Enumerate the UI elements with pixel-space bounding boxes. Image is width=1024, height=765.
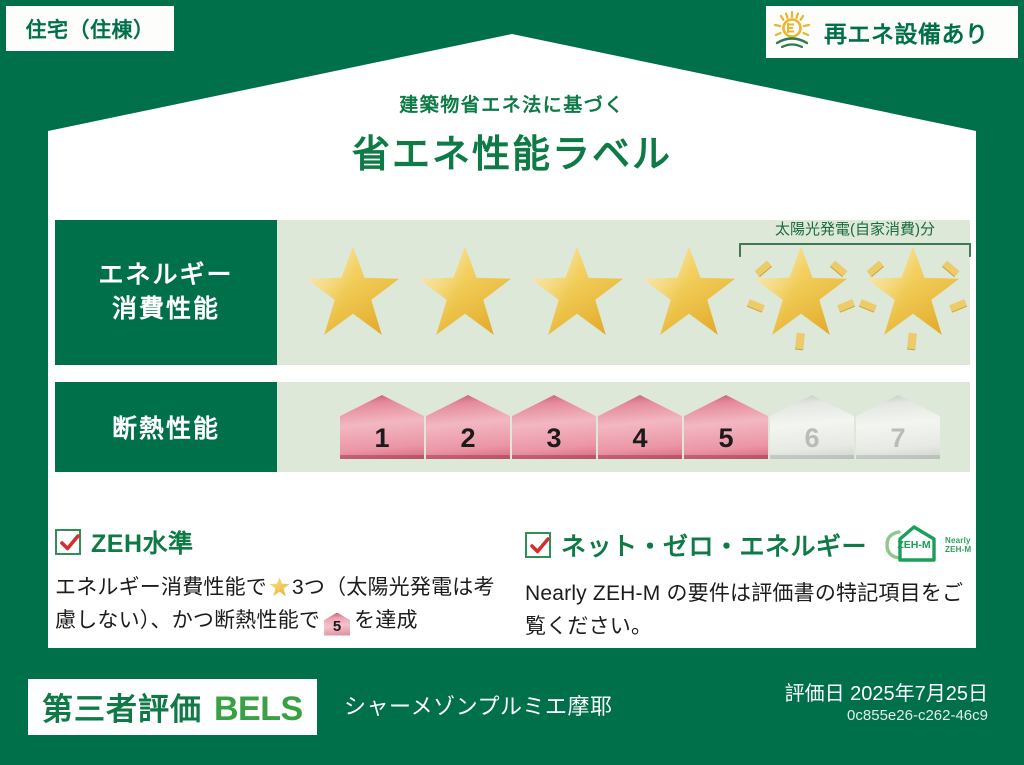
page-title: 省エネ性能ラベル [0, 123, 1024, 178]
zeh-text-part3: を達成 [354, 609, 418, 632]
net-zero-energy-description: Nearly ZEH-M の要件は評価書の特記項目をご覧ください。 [525, 578, 977, 643]
zeh-m-sub-line2: ZEH-M [945, 545, 971, 554]
check-icon [55, 529, 81, 555]
house-type-label: 住宅（住棟） [26, 14, 155, 44]
insulation-level-scale: 1 2 3 4 5 6 7 [277, 395, 940, 459]
insulation-performance-row: 断熱性能 1 2 3 4 5 6 7 [55, 382, 970, 472]
insulation-performance-label: 断熱性能 [55, 382, 277, 472]
title-subtitle: 建築物省エネ法に基づく [0, 90, 1024, 117]
bels-certification-badge: 第三者評価 BELS [28, 679, 317, 735]
insulation-performance-body: 1 2 3 4 5 6 7 [277, 382, 970, 472]
net-zero-energy-section: ネット・ゼロ・エネルギー ZEH-M Nearly ZEH-M Nearly Z… [525, 524, 977, 643]
insulation-level-3: 3 [512, 395, 596, 459]
star-icon [299, 239, 407, 347]
zeh-standard-header: ZEH水準 [55, 524, 507, 560]
insulation-level-badge-inline: 5 [324, 613, 350, 636]
bels-en-label: BELS [214, 690, 303, 729]
zeh-standard-section: ZEH水準 エネルギー消費性能で3つ（太陽光発電は考慮しない）、かつ断熱性能で5… [55, 524, 507, 637]
evaluation-id: 0c855e26-c262-46c9 [847, 707, 988, 724]
insulation-level-5: 5 [684, 395, 768, 459]
level-number: 5 [333, 618, 342, 635]
zeh-text-star-count: 3つ（太陽光発電 [292, 576, 452, 599]
title-block: 建築物省エネ法に基づく 省エネ性能ラベル [0, 90, 1024, 178]
zeh-m-logo: ZEH-M Nearly ZEH-M [883, 524, 971, 566]
zeh-standard-description: エネルギー消費性能で3つ（太陽光発電は考慮しない）、かつ断熱性能で5を達成 [55, 572, 507, 637]
insulation-label-text: 断熱性能 [112, 409, 220, 445]
zeh-m-sublabel: Nearly ZEH-M [945, 536, 971, 554]
star-icon [411, 239, 519, 347]
renewable-energy-label: 再エネ設備あり [824, 15, 989, 49]
zeh-m-sub-line1: Nearly [945, 536, 971, 545]
zeh-text-part1: エネルギー消費性能で [55, 576, 267, 599]
energy-performance-body: 太陽光発電(自家消費)分 [277, 220, 970, 365]
zeh-standard-title: ZEH水準 [91, 524, 194, 560]
net-zero-energy-header: ネット・ゼロ・エネルギー ZEH-M Nearly ZEH-M [525, 524, 977, 566]
svg-text:ZEH-M: ZEH-M [897, 539, 930, 551]
energy-label-line1: エネルギー [98, 259, 233, 293]
solar-sun-icon [772, 10, 816, 55]
footer: 第三者評価 BELS シャーメゾンプルミエ摩耶 評価日 2025年7月25日 0… [0, 665, 1024, 765]
energy-performance-label: エネルギー 消費性能 [55, 220, 277, 365]
house-type-badge: 住宅（住棟） [6, 6, 174, 51]
level-number: 4 [632, 423, 647, 454]
level-number: 1 [374, 423, 389, 454]
renewable-energy-badge: 再エネ設備あり [766, 6, 1018, 58]
insulation-level-4: 4 [598, 395, 682, 459]
level-number: 5 [718, 423, 733, 454]
net-zero-energy-title: ネット・ゼロ・エネルギー [561, 527, 867, 563]
solar-annotation-label: 太陽光発電(自家消費)分 [739, 218, 971, 239]
check-icon [525, 532, 551, 558]
star-icon [523, 239, 631, 347]
building-name: シャーメゾンプルミエ摩耶 [344, 689, 612, 721]
energy-label-line2: 消費性能 [112, 293, 220, 327]
energy-performance-row: エネルギー 消費性能 太陽光発電(自家消費)分 [55, 220, 970, 365]
level-number: 3 [546, 423, 561, 454]
level-number: 7 [890, 423, 905, 454]
level-number: 2 [460, 423, 475, 454]
insulation-level-7: 7 [856, 395, 940, 459]
evaluation-date: 評価日 2025年7月25日 [785, 677, 988, 706]
insulation-level-6: 6 [770, 395, 854, 459]
star-icon [635, 239, 743, 347]
insulation-level-1: 1 [340, 395, 424, 459]
insulation-level-2: 2 [426, 395, 510, 459]
star-icon [269, 577, 290, 597]
solar-bracket [739, 243, 971, 257]
bels-jp-label: 第三者評価 [42, 684, 202, 729]
solar-annotation: 太陽光発電(自家消費)分 [739, 218, 971, 257]
level-number: 6 [804, 423, 819, 454]
